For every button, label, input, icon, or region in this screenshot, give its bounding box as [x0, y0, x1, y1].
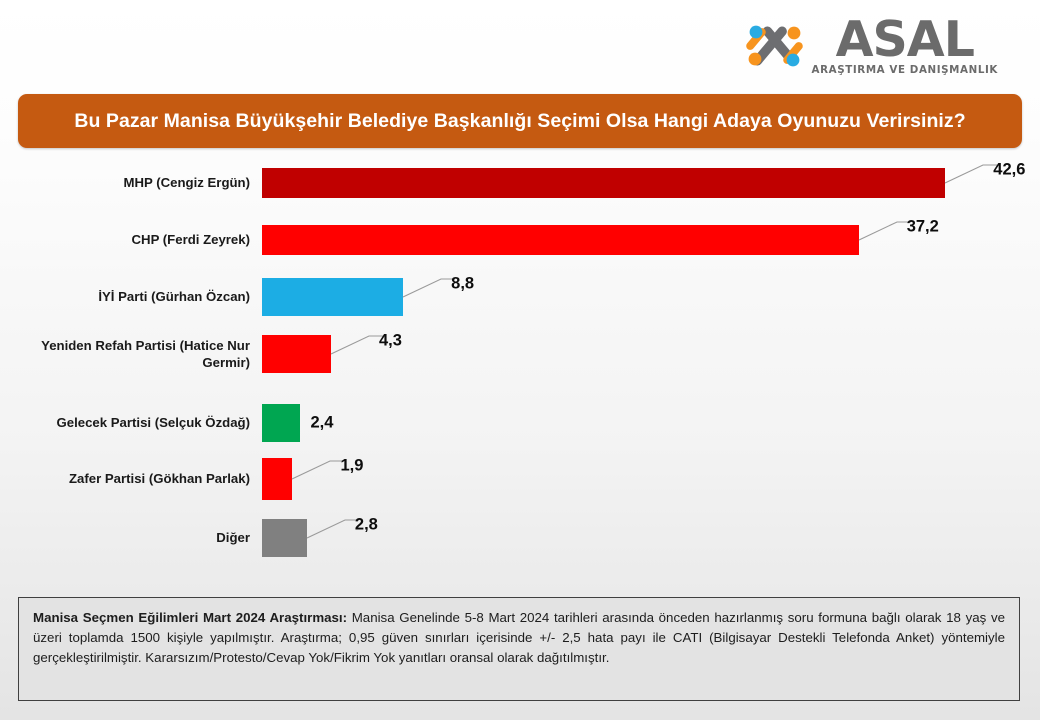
poll-bar-chart: MHP (Cengiz Ergün)42,6CHP (Ferdi Zeyrek)…	[0, 160, 1040, 580]
asal-logo: ASAL ARAŞTIRMA VE DANIŞMANLIK	[744, 16, 998, 76]
bar-zone: 2,4	[262, 400, 1040, 446]
logo-wordmark: ASAL	[836, 16, 974, 63]
bar-zone: 37,2	[262, 217, 1040, 263]
category-label: Diğer	[0, 529, 262, 546]
category-label: CHP (Ferdi Zeyrek)	[0, 231, 262, 248]
bar-6[interactable]	[262, 519, 307, 557]
category-label: MHP (Cengiz Ergün)	[0, 174, 262, 191]
asal-x-logo-icon	[744, 18, 806, 74]
methodology-title: Manisa Seçmen Eğilimleri Mart 2024 Araşt…	[33, 610, 347, 625]
logo-tagline: ARAŞTIRMA VE DANIŞMANLIK	[812, 64, 998, 76]
bar-5[interactable]	[262, 458, 292, 500]
bar-zone: 1,9	[262, 456, 1040, 502]
bar-zone: 8,8	[262, 274, 1040, 320]
value-label: 2,8	[355, 516, 378, 535]
chart-row: CHP (Ferdi Zeyrek)37,2	[0, 217, 1040, 263]
bar-zone: 2,8	[262, 515, 1040, 561]
category-label: Zafer Partisi (Gökhan Parlak)	[0, 470, 262, 487]
value-label: 8,8	[451, 275, 474, 294]
bar-zone: 42,6	[262, 160, 1040, 206]
category-label: Gelecek Partisi (Selçuk Özdağ)	[0, 414, 262, 431]
value-label: 42,6	[993, 161, 1025, 180]
bar-1[interactable]	[262, 225, 859, 255]
bar-0[interactable]	[262, 168, 945, 198]
methodology-note: Manisa Seçmen Eğilimleri Mart 2024 Araşt…	[18, 597, 1020, 701]
bar-4[interactable]	[262, 404, 300, 442]
chart-row: Yeniden Refah Partisi (Hatice Nur Germir…	[0, 331, 1040, 377]
chart-row: MHP (Cengiz Ergün)42,6	[0, 160, 1040, 206]
value-label: 2,4	[310, 414, 333, 433]
question-title-banner: Bu Pazar Manisa Büyükşehir Belediye Başk…	[18, 94, 1022, 148]
page-title: Bu Pazar Manisa Büyükşehir Belediye Başk…	[74, 110, 965, 133]
bar-zone: 4,3	[262, 331, 1040, 377]
value-label: 4,3	[379, 332, 402, 351]
category-label: İYİ Parti (Gürhan Özcan)	[0, 288, 262, 305]
logo-text: ASAL ARAŞTIRMA VE DANIŞMANLIK	[812, 16, 998, 76]
value-label: 1,9	[340, 457, 363, 476]
bar-3[interactable]	[262, 335, 331, 373]
bar-2[interactable]	[262, 278, 403, 316]
chart-row: Zafer Partisi (Gökhan Parlak)1,9	[0, 456, 1040, 502]
value-label: 37,2	[907, 218, 939, 237]
chart-row: Diğer2,8	[0, 515, 1040, 561]
category-label: Yeniden Refah Partisi (Hatice Nur Germir…	[0, 337, 262, 371]
chart-row: Gelecek Partisi (Selçuk Özdağ)2,4	[0, 400, 1040, 446]
chart-row: İYİ Parti (Gürhan Özcan)8,8	[0, 274, 1040, 320]
